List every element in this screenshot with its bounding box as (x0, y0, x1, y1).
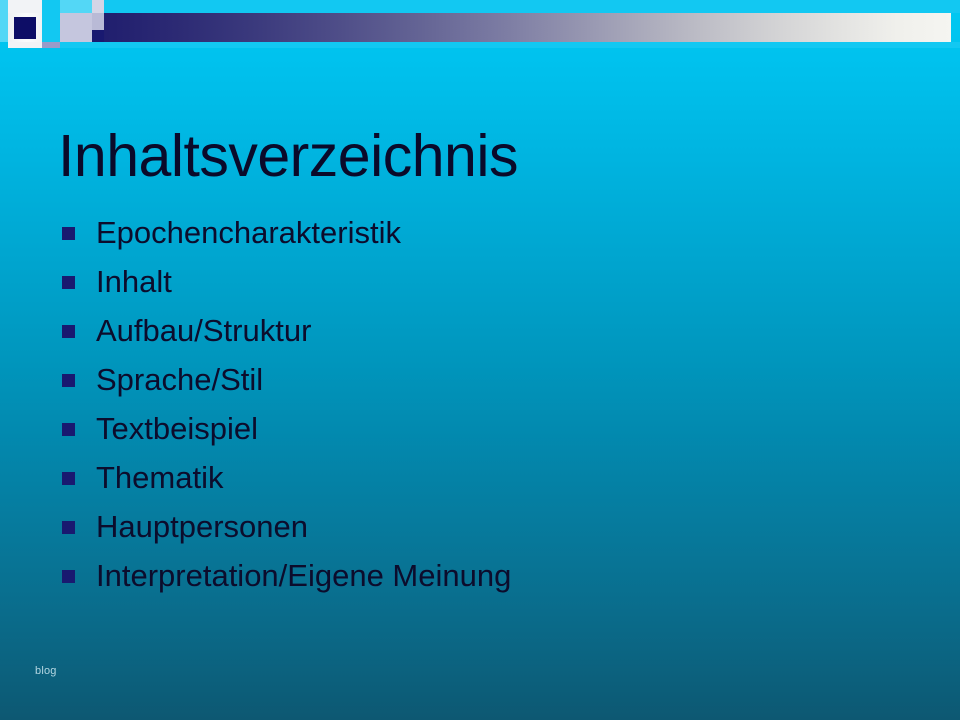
decor-square-lavender-1 (92, 0, 104, 13)
decor-square-cyan-strip-top (104, 0, 960, 13)
decor-square-navy-accent (14, 17, 36, 39)
list-item-label: Inhalt (96, 264, 172, 299)
square-bullet-icon (62, 325, 75, 338)
slide-title: Inhaltsverzeichnis (58, 126, 898, 188)
list-item[interactable]: Inhalt (56, 257, 916, 306)
list-item-label: Aufbau/Struktur (96, 313, 311, 348)
header-gradient-bar (60, 13, 951, 42)
square-bullet-icon (62, 227, 75, 240)
decor-square-cyan-strip-bottom (60, 42, 960, 48)
watermark-label: blog (35, 665, 57, 677)
square-bullet-icon (62, 276, 75, 289)
list-item-label: Interpretation/Eigene Meinung (96, 558, 511, 593)
square-bullet-icon (62, 472, 75, 485)
decor-square-cyan-light-2 (60, 0, 92, 13)
decor-square-cyan-1 (42, 0, 60, 13)
list-item-label: Thematik (96, 460, 223, 495)
decor-square-white-2 (8, 42, 42, 48)
square-bullet-icon (62, 423, 75, 436)
square-bullet-icon (62, 521, 75, 534)
decor-square-navy-small (92, 30, 104, 42)
list-item-label: Textbeispiel (96, 411, 258, 446)
presentation-slide: Inhaltsverzeichnis Epochencharakteristik… (0, 0, 960, 720)
list-item[interactable]: Sprache/Stil (56, 355, 916, 404)
decor-square-cyan-2 (42, 13, 60, 42)
list-item-label: Epochencharakteristik (96, 215, 401, 250)
slide-header-decoration (0, 0, 960, 48)
list-item[interactable]: Hauptpersonen (56, 502, 916, 551)
list-item-label: Sprache/Stil (96, 362, 263, 397)
decor-square-periwinkle-1 (42, 42, 60, 48)
decor-square-white-1 (8, 0, 42, 13)
table-of-contents-list: Epochencharakteristik Inhalt Aufbau/Stru… (56, 208, 916, 600)
decor-square-cyan-light-3 (0, 13, 8, 42)
list-item-label: Hauptpersonen (96, 509, 308, 544)
list-item[interactable]: Epochencharakteristik (56, 208, 916, 257)
list-item[interactable]: Textbeispiel (56, 404, 916, 453)
square-bullet-icon (62, 570, 75, 583)
list-item[interactable]: Interpretation/Eigene Meinung (56, 551, 916, 600)
list-item[interactable]: Thematik (56, 453, 916, 502)
list-item[interactable]: Aufbau/Struktur (56, 306, 916, 355)
square-bullet-icon (62, 374, 75, 387)
decor-square-lavender-2 (60, 13, 92, 42)
decor-square-cyan-light-1 (0, 0, 8, 13)
